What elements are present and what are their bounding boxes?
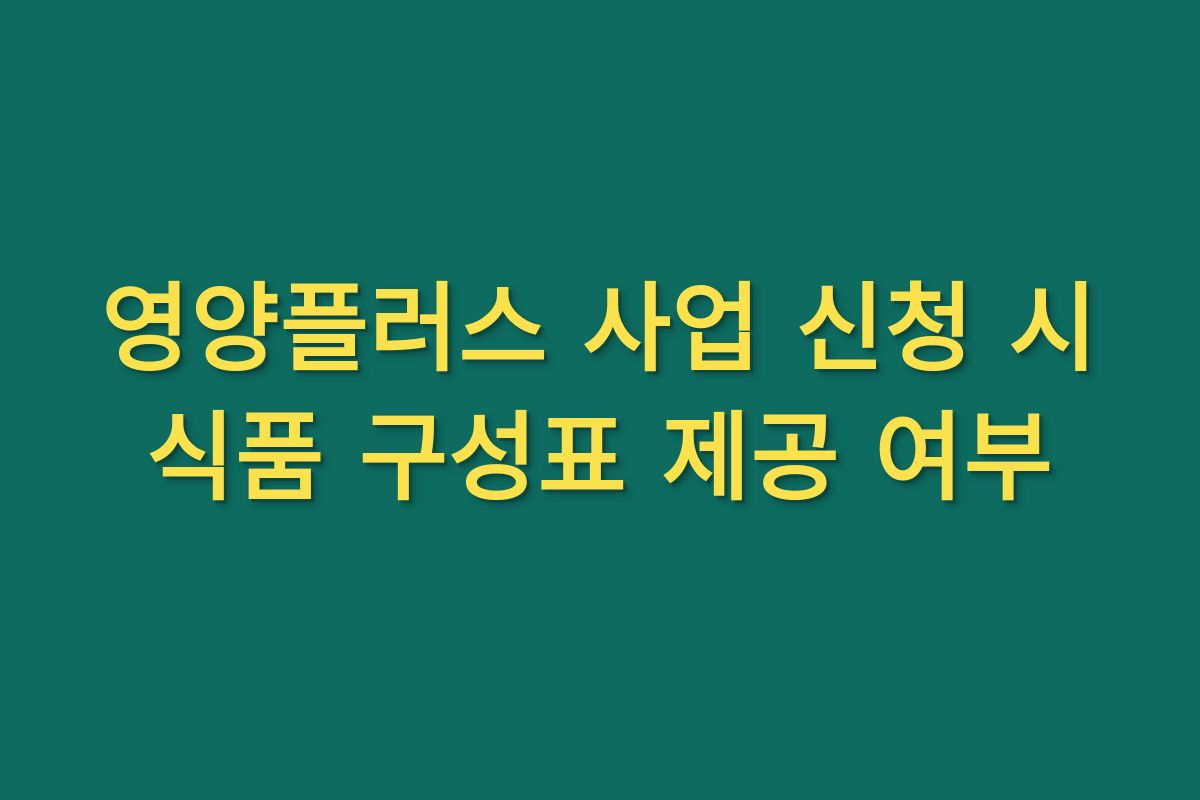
headline-line-2: 식품 구성표 제공 여부 — [0, 394, 1200, 523]
headline-block: 영양플러스 사업 신청 시 식품 구성표 제공 여부 — [0, 265, 1200, 522]
headline-line-1: 영양플러스 사업 신청 시 — [0, 265, 1200, 394]
text-banner: 영양플러스 사업 신청 시 식품 구성표 제공 여부 — [0, 0, 1200, 800]
